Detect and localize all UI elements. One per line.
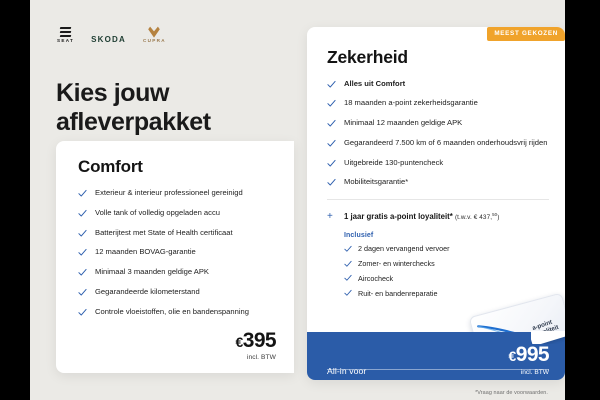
plus-icon: +	[327, 212, 333, 222]
package-card-comfort[interactable]: Comfort Exterieur & interieur profession…	[56, 141, 294, 373]
list-item: 12 maanden BOVAG-garantie	[78, 247, 276, 258]
list-item-label: 2 dagen vervangend vervoer	[358, 244, 450, 253]
list-item: Alles uit Comfort	[327, 79, 549, 90]
seat-wordmark: SEAT	[57, 39, 74, 44]
check-icon	[327, 80, 336, 89]
list-item: Gegarandeerde kilometerstand	[78, 287, 276, 298]
comfort-price-note: incl. BTW	[235, 354, 276, 361]
package-card-zekerheid[interactable]: MEEST GEKOZEN Zekerheid Alles uit Comfor…	[307, 27, 565, 380]
zekerheid-price-block: €995 incl. BTW	[508, 344, 549, 376]
disclaimer-text: *Vraag naar de voorwaarden.	[475, 390, 548, 396]
list-item-label: Alles uit Comfort	[344, 79, 405, 88]
list-item-label: Exterieur & interieur professioneel gere…	[95, 188, 243, 197]
zekerheid-price: €995	[508, 343, 549, 366]
check-icon	[344, 274, 352, 282]
loyalty-label: 1 jaar gratis a-point loyaliteit*	[344, 212, 453, 221]
list-item: Batterijtest met State of Health certifi…	[78, 228, 276, 239]
comfort-price: €395	[235, 330, 276, 351]
check-icon	[78, 189, 87, 198]
list-item-label: Gegarandeerde kilometerstand	[95, 287, 200, 296]
check-icon	[327, 99, 336, 108]
list-item: Aircocheck	[344, 274, 549, 283]
list-item: Minimaal 12 maanden geldige APK	[327, 118, 549, 129]
currency-symbol: €	[235, 334, 242, 350]
seat-mark-icon	[60, 27, 71, 38]
list-item-label: Volle tank of volledig opgeladen accu	[95, 208, 220, 217]
loyalty-addon-row: + 1 jaar gratis a-point loyaliteit* (t.w…	[327, 212, 549, 222]
list-item: Controle vloeistoffen, olie en bandenspa…	[78, 307, 276, 318]
loyalty-value-end: )	[497, 214, 499, 221]
skoda-logo: SKODA	[91, 36, 126, 44]
check-icon	[78, 268, 87, 277]
list-item-label: Uitgebreide 130-puntencheck	[344, 158, 443, 167]
divider	[327, 199, 549, 200]
check-icon	[78, 288, 87, 297]
allin-price-bar[interactable]: All-in voor €995 incl. BTW	[307, 332, 565, 380]
list-item-label: Controle vloeistoffen, olie en bandenspa…	[95, 307, 249, 316]
seat-logo: SEAT	[57, 27, 74, 44]
list-item: 2 dagen vervangend vervoer	[344, 244, 549, 253]
cupra-wordmark: CUPRA	[143, 39, 166, 44]
list-item-label: Minimaal 12 maanden geldige APK	[344, 118, 462, 127]
check-icon	[327, 119, 336, 128]
check-icon	[78, 248, 87, 257]
inclusief-section: Inclusief 2 dagen vervangend vervoer Zom…	[344, 232, 549, 298]
content-stage: SEAT SKODA CUPRA Kies jouw afleverpakket…	[30, 0, 565, 400]
check-icon	[78, 308, 87, 317]
list-item: Ruit- en bandenreparatie	[344, 289, 549, 298]
list-item-label: Aircocheck	[358, 274, 393, 283]
list-item-label: 18 maanden a-point zekerheidsgarantie	[344, 98, 478, 107]
list-item: Mobiliteitsgarantie*	[327, 177, 549, 188]
skoda-wordmark: SKODA	[91, 36, 126, 44]
comfort-title: Comfort	[78, 158, 276, 175]
cupra-mark-icon	[147, 26, 161, 38]
currency-symbol: €	[508, 348, 515, 364]
list-item: Exterieur & interieur professioneel gere…	[78, 188, 276, 199]
list-item-label: Zomer- en winterchecks	[358, 259, 435, 268]
list-item-label: 12 maanden BOVAG-garantie	[95, 247, 196, 256]
list-item-label: Gegarandeerd 7.500 km of 6 maanden onder…	[344, 138, 547, 147]
screenshot-frame: SEAT SKODA CUPRA Kies jouw afleverpakket…	[0, 0, 600, 400]
check-icon	[327, 139, 336, 148]
list-item: Zomer- en winterchecks	[344, 259, 549, 268]
list-item-label: Ruit- en bandenreparatie	[358, 289, 438, 298]
zekerheid-title: Zekerheid	[327, 49, 549, 67]
brand-logo-strip: SEAT SKODA CUPRA	[57, 18, 166, 44]
list-item-label: Minimaal 3 maanden geldige APK	[95, 267, 209, 276]
comfort-price-block: €395 incl. BTW	[235, 330, 276, 361]
list-item: Minimaal 3 maanden geldige APK	[78, 267, 276, 278]
zekerheid-feature-list: Alles uit Comfort 18 maanden a-point zek…	[327, 79, 549, 189]
check-icon	[78, 229, 87, 238]
page-title: Kies jouw afleverpakket	[56, 79, 286, 137]
list-item: Uitgebreide 130-puntencheck	[327, 158, 549, 169]
loyalty-value-main: (t.w.v. € 437,	[455, 214, 492, 221]
price-amount: 995	[516, 343, 549, 366]
inclusief-title: Inclusief	[344, 232, 549, 239]
list-item-label: Batterijtest met State of Health certifi…	[95, 228, 233, 237]
check-icon	[78, 209, 87, 218]
check-icon	[344, 289, 352, 297]
check-icon	[344, 260, 352, 268]
loyalty-value: (t.w.v. € 437,50)	[455, 214, 499, 221]
cupra-logo: CUPRA	[143, 26, 166, 44]
check-icon	[344, 245, 352, 253]
inclusief-list: 2 dagen vervangend vervoer Zomer- en win…	[344, 244, 549, 298]
comfort-feature-list: Exterieur & interieur professioneel gere…	[78, 188, 276, 317]
divider	[327, 369, 549, 370]
check-icon	[327, 178, 336, 187]
list-item: 18 maanden a-point zekerheidsgarantie	[327, 98, 549, 109]
price-amount: 395	[243, 329, 276, 352]
allin-label: All-in voor	[327, 366, 366, 376]
list-item-label: Mobiliteitsgarantie*	[344, 177, 408, 186]
status-badge: MEEST GEKOZEN	[487, 27, 565, 41]
list-item: Gegarandeerd 7.500 km of 6 maanden onder…	[327, 138, 549, 149]
check-icon	[327, 159, 336, 168]
list-item: Volle tank of volledig opgeladen accu	[78, 208, 276, 219]
